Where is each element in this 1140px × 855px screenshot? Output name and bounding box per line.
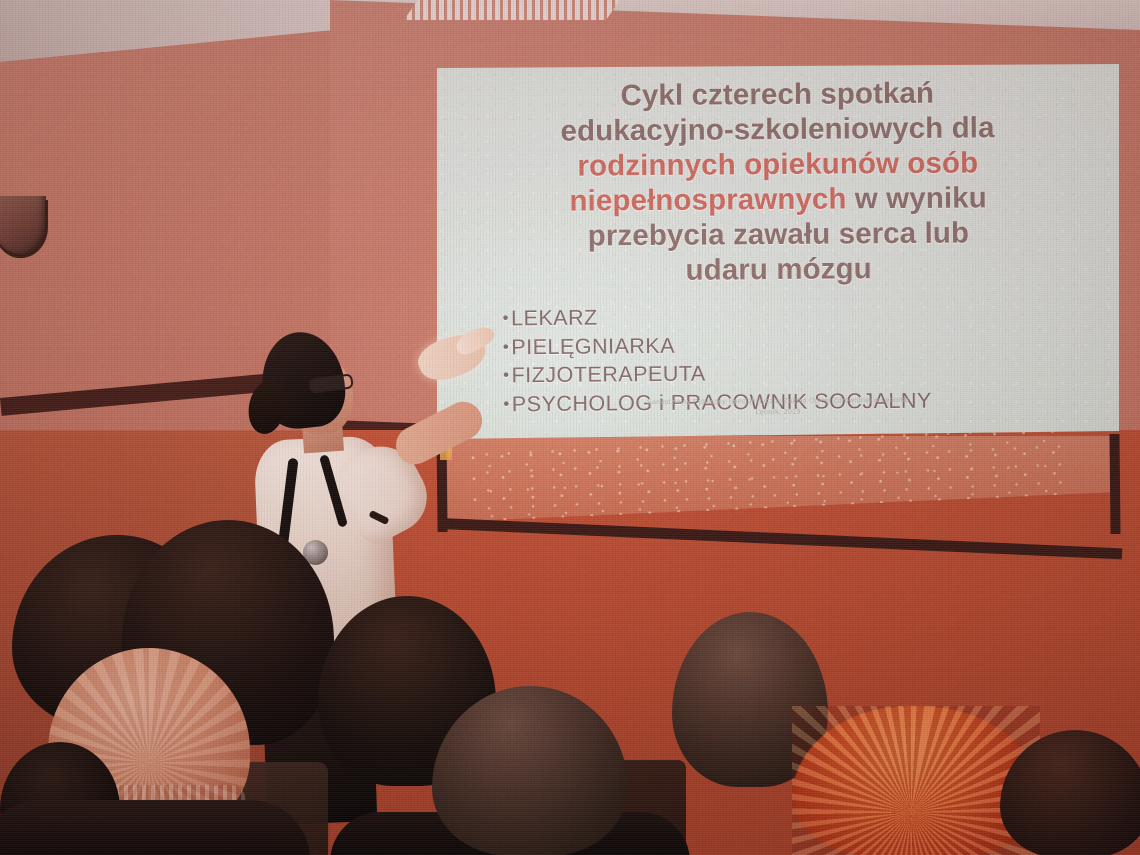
slide-title-segment-highlight: niepełnosprawnych [569,182,846,217]
slide-content: Cykl czterech spotkań edukacyjno-szkolen… [437,64,1119,439]
stethoscope-chestpiece-icon [303,540,328,565]
slide-title-segment: Cykl czterech spotkań [620,77,934,112]
slide-title-segment: przebycia zawału serca lub [588,216,970,252]
slide-title-line: edukacyjno-szkoleniowych dla [462,110,1092,150]
nurse-presenter [225,318,525,788]
projection-screen: Cykl czterech spotkań edukacyjno-szkolen… [437,64,1119,439]
slide-title-line: udaru mózgu [464,250,1094,290]
slide-title-segment: edukacyjno-szkoleniowych dla [560,111,994,147]
slide-title-line: rodzinnych opiekunów osób [463,145,1093,185]
presenter-trousers [263,686,378,825]
slide-title: Cykl czterech spotkań edukacyjno-szkolen… [462,76,1094,291]
lecture-room-photo: Cykl czterech spotkań edukacyjno-szkolen… [0,0,1140,855]
presenter-arm [389,395,488,471]
slide-title-segment-highlight: rodzinnych opiekunów osób [577,146,978,182]
slide-title-line: przebycia zawału serca lub [463,215,1093,255]
slide-title-line: niepełnosprawnych w wyniku [463,180,1093,220]
slide-title-segment: w wyniku [846,181,986,215]
louvre-grid [404,0,628,20]
slide-title-segment: udaru mózgu [685,252,872,286]
recessed-louvre-light-icon [404,0,628,20]
slide-title-line: Cykl czterech spotkań [462,76,1092,116]
projection-frame-right [1109,434,1120,534]
